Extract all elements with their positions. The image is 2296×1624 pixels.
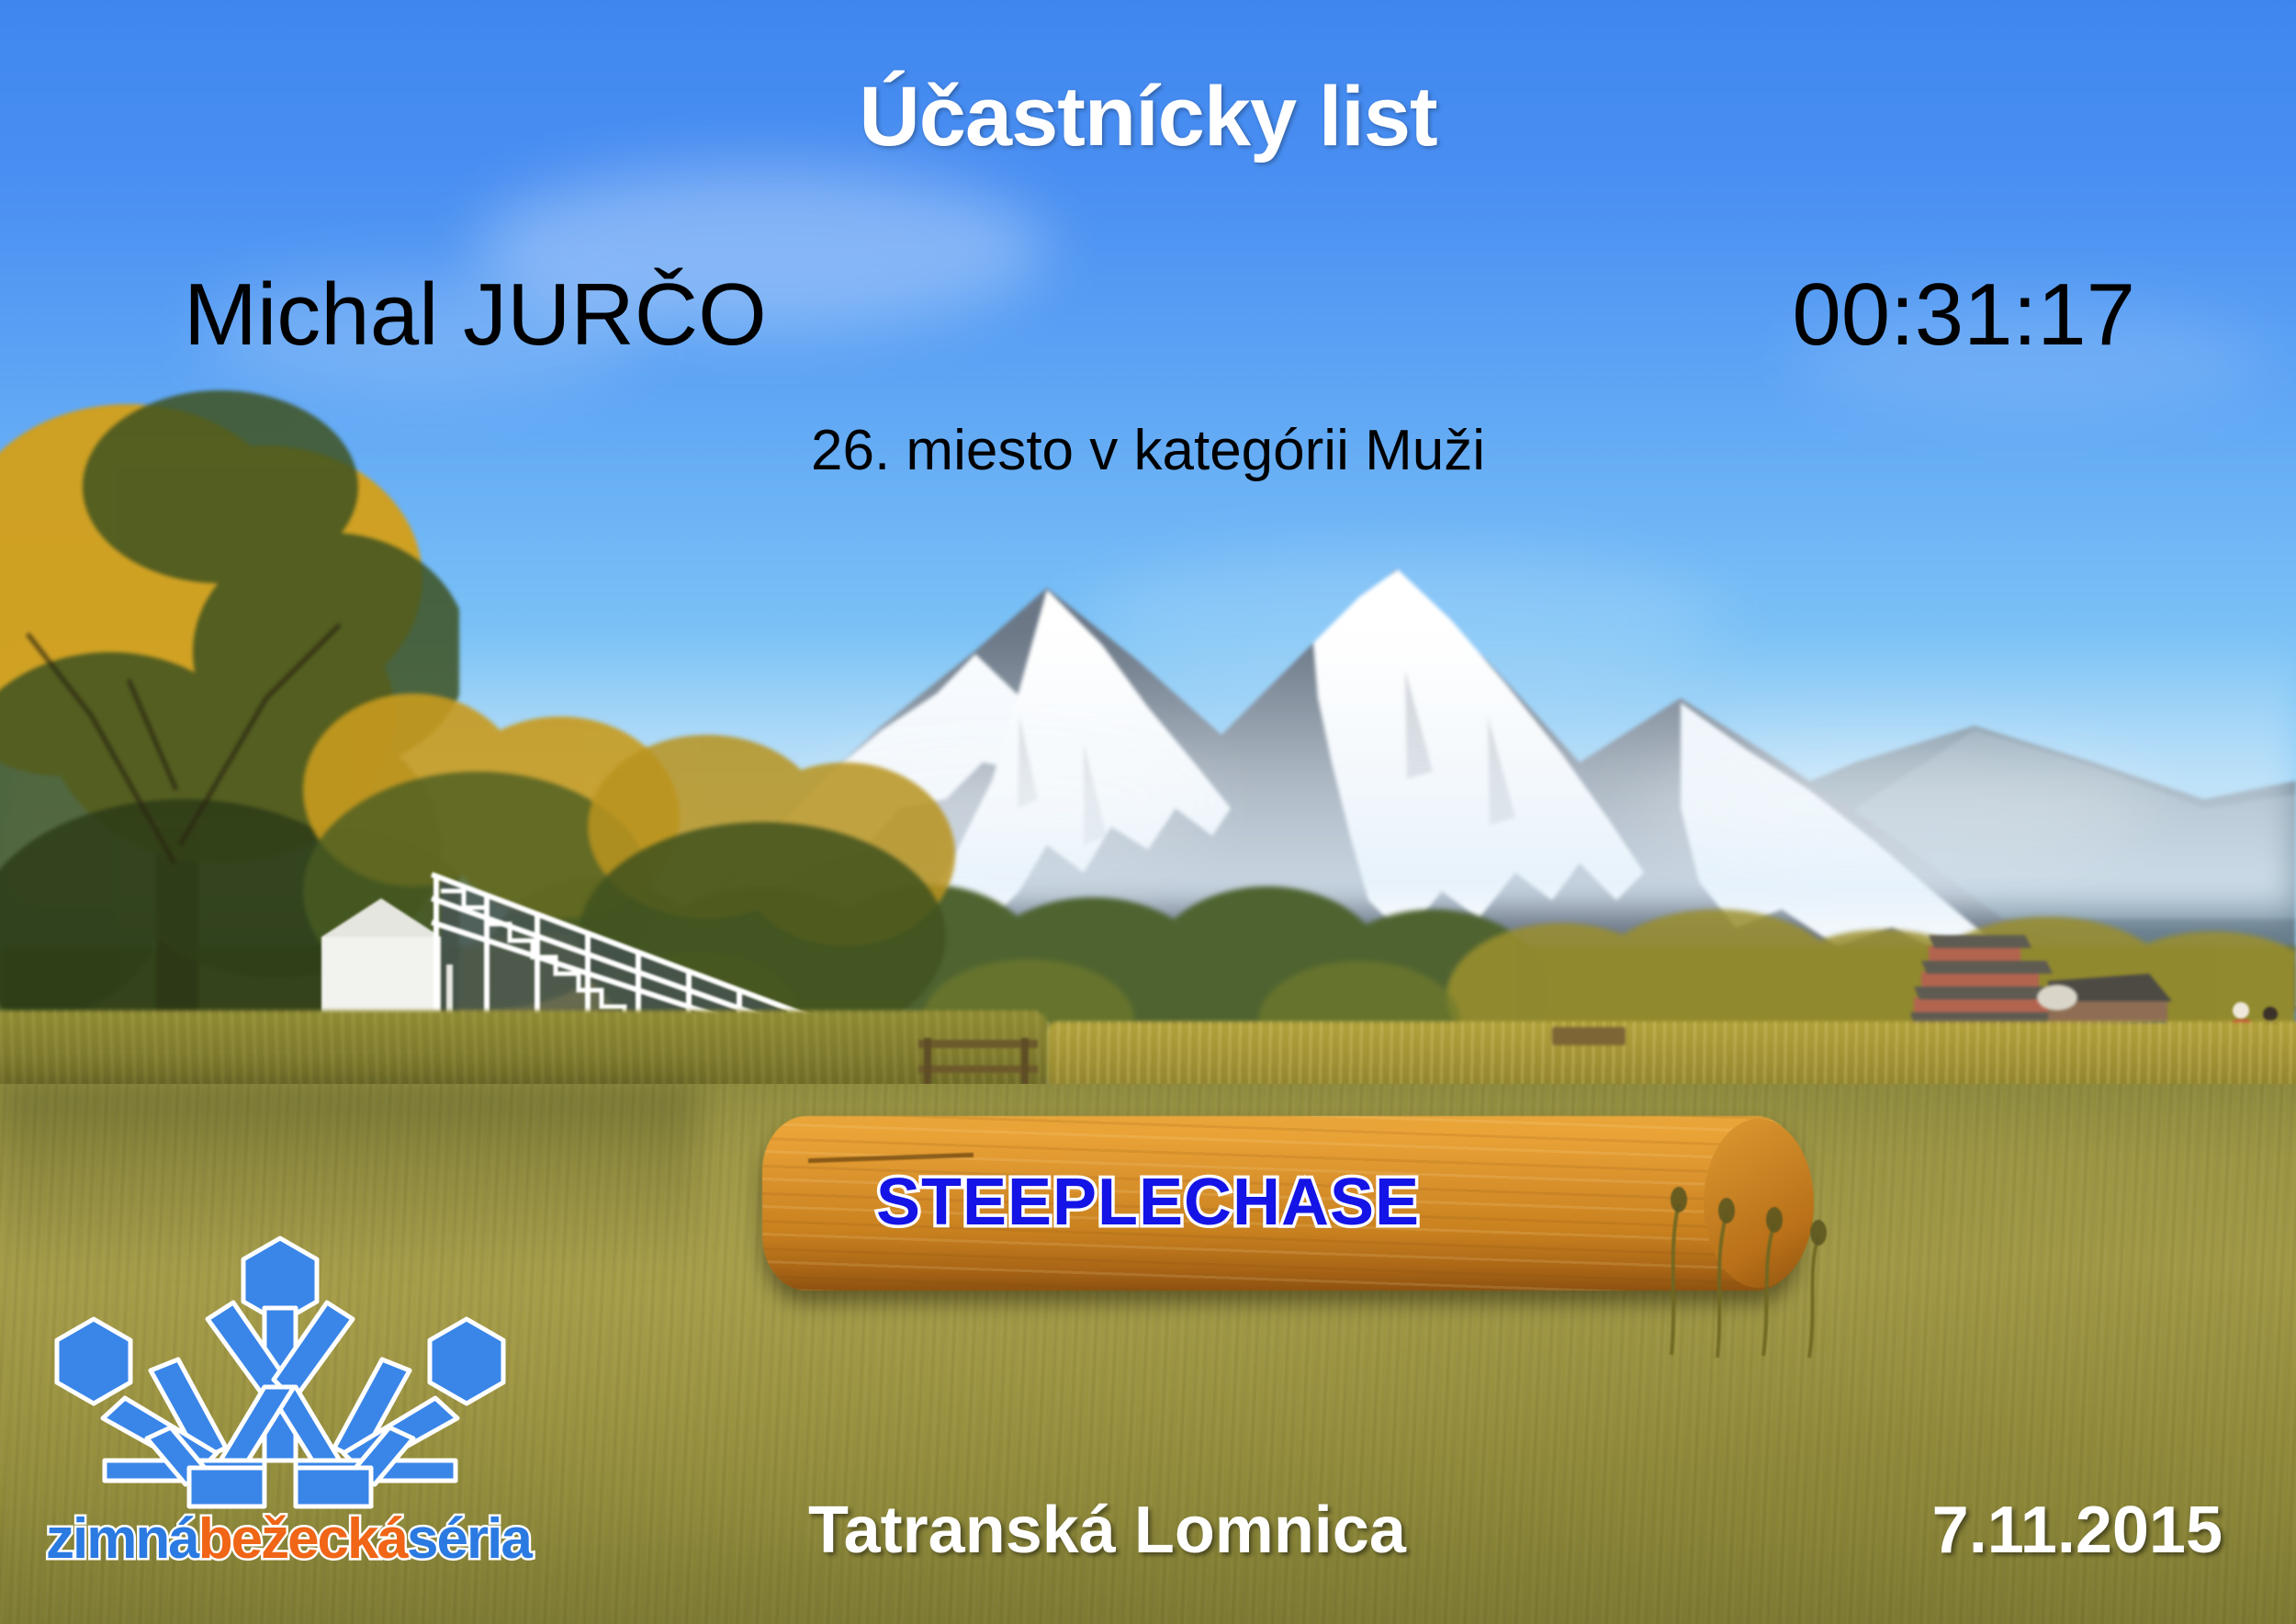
result-line: Michal JURČO 00:31:17 bbox=[0, 265, 2296, 375]
logo-word-bezecka: bežecká bbox=[198, 1507, 407, 1571]
race-label: STEEPLECHASE bbox=[0, 1165, 2296, 1240]
logo-word-zimna: zimná bbox=[46, 1507, 198, 1571]
runner-name: Michal JURČO bbox=[184, 265, 767, 366]
bench-far bbox=[1552, 1027, 1626, 1045]
venue-name: Tatranská Lomnica bbox=[808, 1493, 1406, 1568]
series-logo: zimnábežeckáséria bbox=[37, 1231, 523, 1598]
page-title: Účastnícky list bbox=[0, 69, 2296, 165]
participant-certificate-poster: Účastnícky list Michal JURČO 00:31:17 26… bbox=[0, 0, 2296, 1624]
placement-text: 26. miesto v kategórii Muži bbox=[0, 418, 2296, 483]
snowflake-runner-icon bbox=[37, 1231, 523, 1534]
finish-time: 00:31:17 bbox=[1792, 265, 2135, 366]
event-date: 7.11.2015 bbox=[1932, 1493, 2223, 1568]
series-logo-text: zimnábežeckáséria bbox=[46, 1506, 523, 1572]
logo-word-seria: séria bbox=[407, 1507, 531, 1571]
